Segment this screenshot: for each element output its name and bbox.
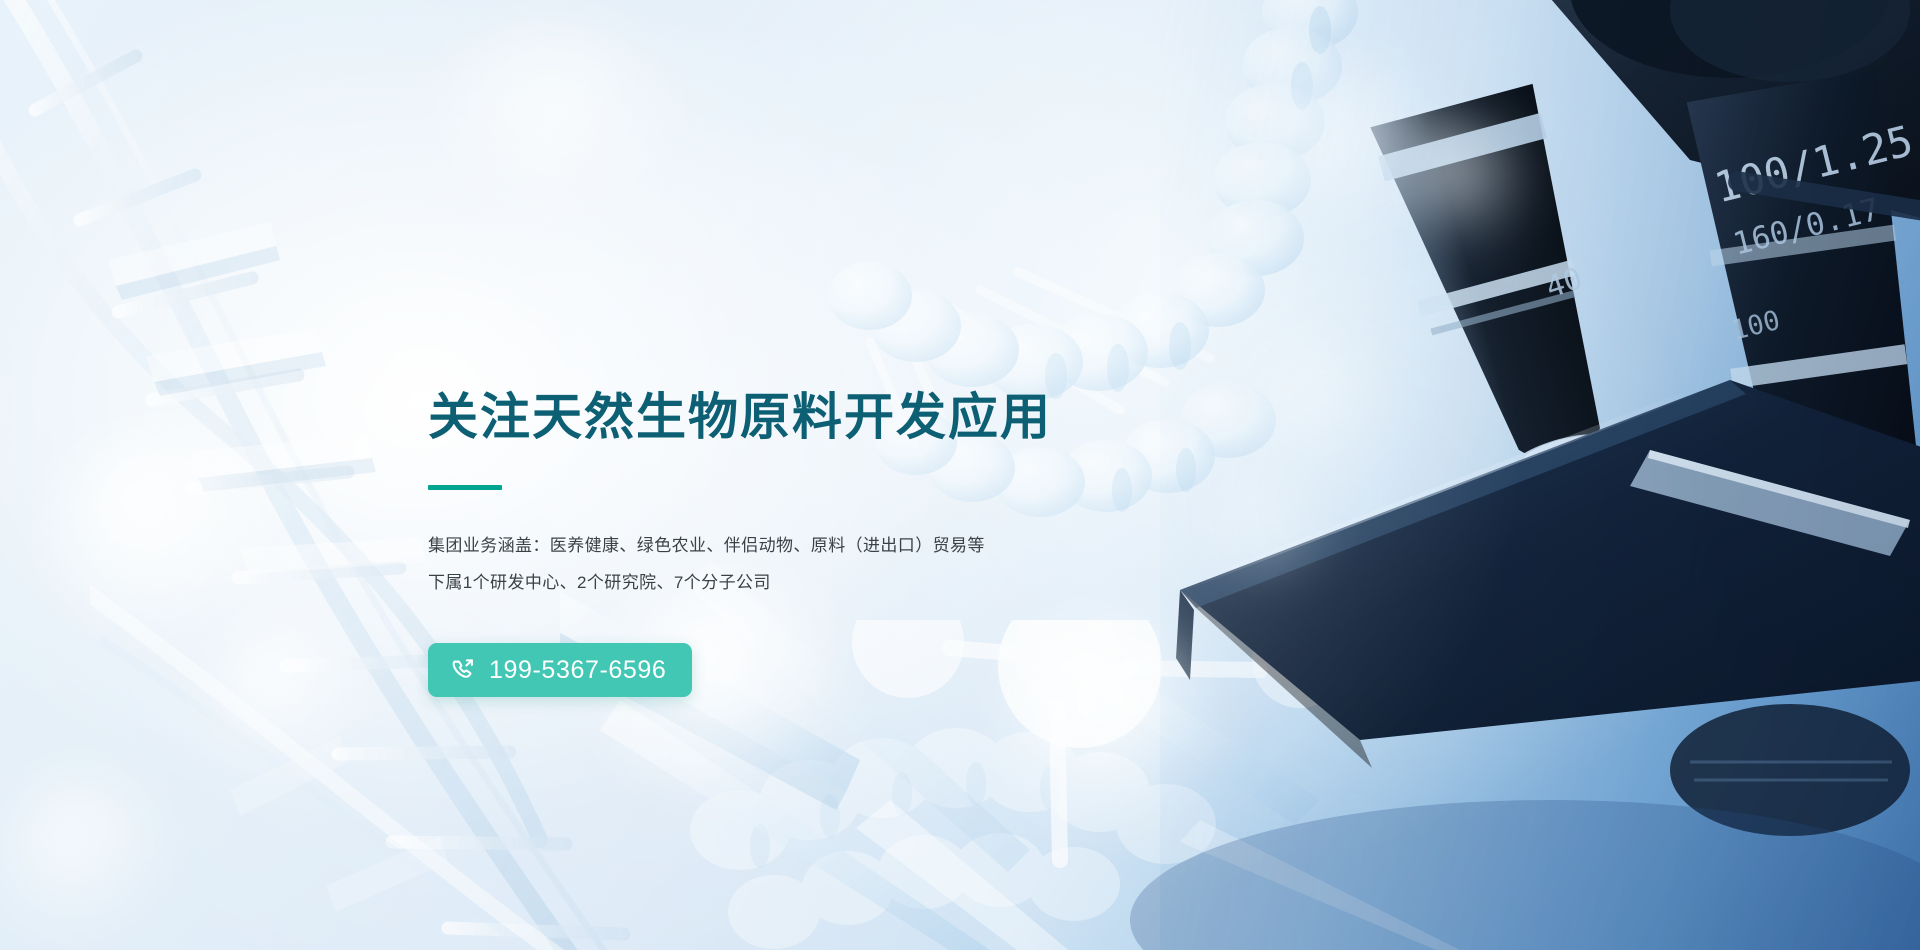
description-line-1: 集团业务涵盖：医养健康、绿色农业、伴侣动物、原料（进出口）贸易等	[428, 528, 1328, 565]
svg-text:40: 40	[1542, 261, 1587, 305]
bokeh-orb	[210, 620, 360, 770]
title-divider	[428, 485, 502, 490]
bokeh-orb	[0, 770, 170, 940]
phone-number-label: 199-5367-6596	[489, 658, 666, 683]
svg-text:100/1.25: 100/1.25	[1710, 116, 1918, 212]
description-line-2: 下属1个研发中心、2个研究院、7个分子公司	[428, 565, 1328, 602]
bokeh-orb	[1255, 60, 1455, 260]
phone-forward-icon	[450, 657, 476, 683]
bokeh-orb	[430, 20, 690, 220]
hero-banner: 100/1.25 160/0.17 100 40	[0, 0, 1920, 950]
svg-text:160/0.17: 160/0.17	[1730, 192, 1884, 263]
phone-cta-button[interactable]: 199-5367-6596	[428, 643, 692, 697]
bokeh-orb	[60, 430, 270, 640]
hero-content: 关注天然生物原料开发应用 集团业务涵盖：医养健康、绿色农业、伴侣动物、原料（进出…	[428, 388, 1328, 697]
page-title: 关注天然生物原料开发应用	[428, 388, 1328, 447]
svg-text:100: 100	[1728, 305, 1783, 347]
description-block: 集团业务涵盖：医养健康、绿色农业、伴侣动物、原料（进出口）贸易等 下属1个研发中…	[428, 528, 1328, 601]
bokeh-orb	[1400, 120, 1530, 250]
